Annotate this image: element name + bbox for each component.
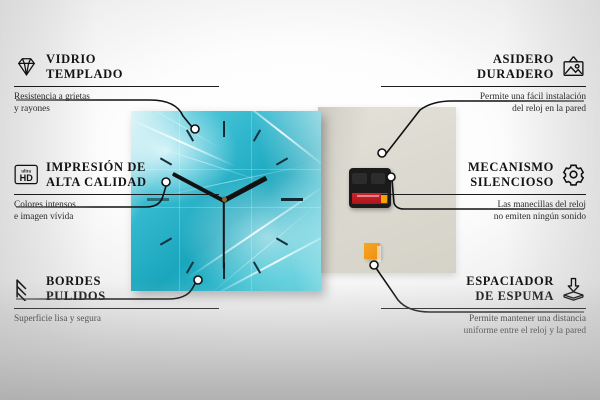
- clock-tick: [160, 237, 172, 245]
- callout-desc-line2: uniforme entre el reloj y la pared: [381, 325, 586, 337]
- polished-edges-icon: [14, 276, 39, 301]
- callout-title-line2: PULIDOS: [46, 289, 106, 304]
- callout-title-line1: MECANISMO: [468, 160, 554, 175]
- callout-mecanismo-silencioso: MECANISMO SILENCIOSO Las manecillas del …: [381, 160, 586, 223]
- callout-title-line1: ESPACIADOR: [466, 274, 554, 289]
- clock-tick: [281, 198, 303, 201]
- callout-title-line2: ALTA CALIDAD: [46, 175, 147, 190]
- callout-desc-line1: Resistencia a grietas: [14, 91, 219, 103]
- callout-desc-line1: Superficie lisa y segura: [14, 313, 219, 325]
- callout-divider: [381, 86, 586, 87]
- clock-tick: [276, 237, 288, 245]
- clock-tick: [253, 129, 261, 141]
- clock-hour-hand: [223, 176, 268, 203]
- svg-text:HD: HD: [20, 173, 34, 183]
- callout-desc-line2: no emiten ningún sonido: [381, 211, 586, 223]
- callout-divider: [381, 194, 586, 195]
- callout-asidero-duradero: ASIDERO DURADERO Permite una fácil insta…: [381, 52, 586, 115]
- mechanism-housing-left: [352, 173, 367, 184]
- callout-title-line1: BORDES: [46, 274, 106, 289]
- clock-center-pin: [222, 197, 227, 202]
- callout-title-line1: IMPRESIÓN DE: [46, 160, 147, 175]
- callout-bordes-pulidos: BORDES PULIDOS Superficie lisa y segura: [14, 274, 219, 325]
- callout-title-line2: SILENCIOSO: [468, 175, 554, 190]
- callout-desc-line2: del reloj en la pared: [381, 103, 586, 115]
- callout-impresion-alta-calidad: ultra HD IMPRESIÓN DE ALTA CALIDAD Color…: [14, 160, 219, 223]
- clock-tick: [276, 157, 288, 165]
- down-arrow-stack-icon: [561, 276, 586, 301]
- picture-frame-icon: [561, 54, 586, 79]
- callout-divider: [381, 308, 586, 309]
- callout-desc-line2: e imagen vívida: [14, 211, 219, 223]
- infographic-canvas: VIDRIO TEMPLADO Resistencia a grietas y …: [0, 0, 600, 400]
- callout-title-line2: DE ESPUMA: [466, 289, 554, 304]
- callout-desc-line1: Las manecillas del reloj: [381, 199, 586, 211]
- callout-title-line2: DURADERO: [477, 67, 554, 82]
- callout-divider: [14, 86, 219, 87]
- ultra-hd-icon: ultra HD: [14, 162, 39, 187]
- diamond-icon: [14, 54, 39, 79]
- callout-espaciador-de-espuma: ESPACIADOR DE ESPUMA Permite mantener un…: [381, 274, 586, 337]
- callout-title-line1: ASIDERO: [477, 52, 554, 67]
- callout-title-line1: VIDRIO: [46, 52, 123, 67]
- callout-divider: [14, 308, 219, 309]
- callout-divider: [14, 194, 219, 195]
- callout-vidrio-templado: VIDRIO TEMPLADO Resistencia a grietas y …: [14, 52, 219, 115]
- clock-second-hand: [223, 201, 225, 269]
- callout-desc-line1: Colores intensos: [14, 199, 219, 211]
- gear-icon: [561, 162, 586, 187]
- foam-spacer: [364, 243, 380, 259]
- callout-desc-line1: Permite mantener una distancia: [381, 313, 586, 325]
- callout-title-line2: TEMPLADO: [46, 67, 123, 82]
- callout-desc-line2: y rayones: [14, 103, 219, 115]
- callout-desc-line1: Permite una fácil instalación: [381, 91, 586, 103]
- clock-tick: [223, 121, 225, 137]
